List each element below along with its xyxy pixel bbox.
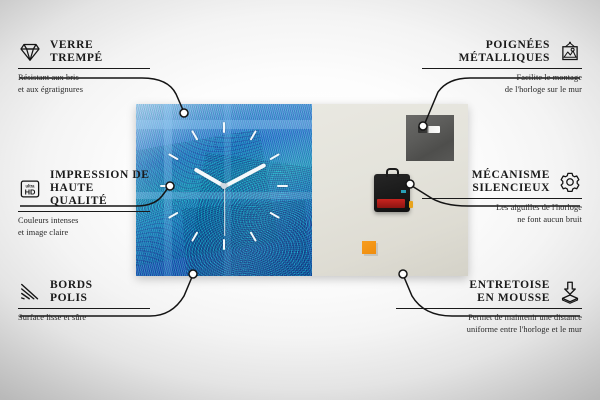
tick-11 xyxy=(191,130,198,141)
svg-text:HD: HD xyxy=(25,187,36,196)
callout-rule xyxy=(18,211,150,212)
callout-impression-haute-qualite[interactable]: ultra HD IMPRESSION DEHAUTE QUALITÉ Coul… xyxy=(18,169,150,239)
callout-verre-trempe[interactable]: VERRETREMPÉ Résistant aux briset aux égr… xyxy=(18,39,150,96)
tick-12 xyxy=(223,122,225,133)
callout-rule xyxy=(422,68,582,69)
tick-8 xyxy=(168,212,179,219)
tick-7 xyxy=(191,231,198,242)
callout-description: Facilite le montagede l'horloge sur le m… xyxy=(422,72,582,96)
moire-swirl-left xyxy=(136,129,278,269)
callout-rule xyxy=(422,198,582,199)
callout-title: MÉCANISMESILENCIEUX xyxy=(472,169,550,195)
clock-second-hand xyxy=(224,186,225,236)
callout-mecanisme-silencieux[interactable]: MÉCANISMESILENCIEUX Les aiguilles de l'h… xyxy=(422,169,582,226)
clock-minute-hand xyxy=(223,163,265,188)
clock-center-cap xyxy=(221,183,227,189)
callout-rule xyxy=(18,68,150,69)
callout-poignees-metalliques[interactable]: POIGNÉESMÉTALLIQUES Facilite le montaged… xyxy=(422,39,582,96)
mechanism-hanging-loop xyxy=(386,168,399,177)
moire-swirl-bottom xyxy=(182,200,311,276)
tick-1 xyxy=(250,130,257,141)
callout-rule xyxy=(396,308,582,309)
callout-title: ENTRETOISEEN MOUSSE xyxy=(469,279,550,305)
clock-mechanism xyxy=(374,174,410,212)
foam-spacer xyxy=(362,241,376,254)
polished-edge-icon xyxy=(18,280,42,304)
battery-terminal xyxy=(409,201,413,208)
callout-title: POIGNÉESMÉTALLIQUES xyxy=(459,39,550,65)
print-band-vertical-1 xyxy=(164,104,172,276)
callout-bords-polis[interactable]: BORDSPOLIS Surface lisse et sûre xyxy=(18,279,150,324)
callout-description: Couleurs intenseset image claire xyxy=(18,215,150,239)
clock-front-panel xyxy=(136,104,312,276)
callout-title: IMPRESSION DEHAUTE QUALITÉ xyxy=(50,169,150,208)
tick-4 xyxy=(269,212,280,219)
ultra-hd-icon: ultra HD xyxy=(18,177,42,201)
tick-9 xyxy=(160,185,171,187)
callout-description: Permet de maintenir une distanceuniforme… xyxy=(396,312,582,336)
tick-10 xyxy=(168,153,179,160)
tick-5 xyxy=(250,231,257,242)
tick-6 xyxy=(223,239,225,250)
callout-title: VERRETREMPÉ xyxy=(50,39,103,65)
callout-description: Résistant aux briset aux égratignures xyxy=(18,72,150,96)
callout-title: BORDSPOLIS xyxy=(50,279,93,305)
product-photo xyxy=(136,104,468,276)
mechanism-label-dot xyxy=(401,190,406,193)
hanger-keyhole-slot xyxy=(418,126,440,133)
callout-entretoise-en-mousse[interactable]: ENTRETOISEEN MOUSSE Permet de maintenir … xyxy=(396,279,582,336)
metal-hanger-plate xyxy=(406,115,454,161)
callout-rule xyxy=(18,308,150,309)
tick-2 xyxy=(269,153,280,160)
infographic-stage: VERRETREMPÉ Résistant aux briset aux égr… xyxy=(0,0,600,400)
hanging-frame-icon xyxy=(558,40,582,64)
diamond-icon xyxy=(18,40,42,64)
callout-description: Surface lisse et sûre xyxy=(18,312,150,324)
callout-description: Les aiguilles de l'horlogene font aucun … xyxy=(422,202,582,226)
battery xyxy=(377,199,405,208)
foam-spacer-icon xyxy=(558,280,582,304)
gear-icon xyxy=(558,170,582,194)
tick-3 xyxy=(277,185,288,187)
